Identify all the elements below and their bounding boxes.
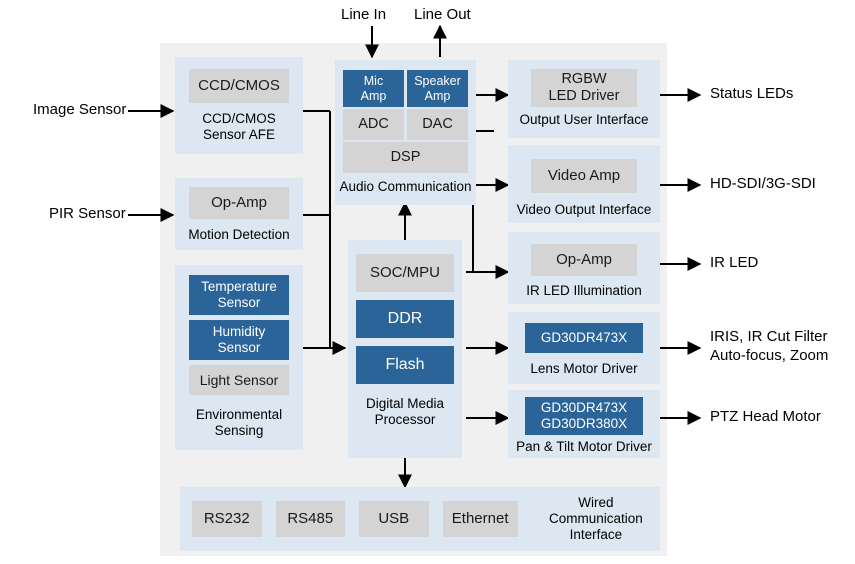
label-image-sensor: Image Sensor [33, 101, 126, 120]
chip-usb[interactable]: USB [359, 501, 429, 537]
label-hd-sdi: HD-SDI/3G-SDI [710, 175, 816, 194]
group-ir-led-illumination: Op-Amp IR LED Illumination [508, 232, 660, 304]
label-line-in: Line In [341, 6, 386, 25]
label-ir-led: IR LED [710, 254, 758, 273]
caption-wired-communication: Wired Communication Interface [532, 495, 660, 544]
chip-ethernet[interactable]: Ethernet [443, 501, 518, 537]
chip-mic-amp[interactable]: Mic Amp [343, 70, 404, 107]
caption-image-sensor: CCD/CMOS Sensor AFE [202, 111, 276, 143]
chip-temperature-sensor[interactable]: Temperature Sensor [189, 275, 289, 315]
chip-rs485[interactable]: RS485 [276, 501, 346, 537]
chip-rgbw-led-driver[interactable]: RGBW LED Driver [531, 69, 637, 107]
chip-gd30dr473x-lens[interactable]: GD30DR473X [525, 323, 643, 353]
chip-op-amp-motion[interactable]: Op-Amp [189, 187, 289, 219]
caption-pan-tilt-motor-driver: Pan & Tilt Motor Driver [516, 439, 652, 455]
chip-video-amp[interactable]: Video Amp [531, 159, 637, 193]
group-audio-communication: Mic Amp Speaker Amp ADC DAC DSP Audio Co… [335, 60, 476, 205]
group-video-output-interface: Video Amp Video Output Interface [508, 145, 660, 223]
caption-environmental-sensing: Environmental Sensing [196, 407, 282, 439]
caption-output-user-interface: Output User Interface [519, 112, 648, 128]
caption-motion-detection: Motion Detection [188, 227, 289, 243]
chip-rs232[interactable]: RS232 [192, 501, 262, 537]
label-line-out: Line Out [414, 6, 471, 25]
chip-speaker-amp[interactable]: Speaker Amp [407, 70, 468, 107]
group-image-sensor: CCD/CMOS CCD/CMOS Sensor AFE [175, 57, 303, 154]
chip-adc[interactable]: ADC [343, 109, 404, 140]
caption-ir-led-illumination: IR LED Illumination [526, 283, 642, 299]
label-pir-sensor: PIR Sensor [49, 205, 126, 224]
group-digital-media-processor: SOC/MPU DDR Flash Digital Media Processo… [348, 240, 462, 458]
chip-ccd-cmos[interactable]: CCD/CMOS [189, 69, 289, 103]
label-ptz-head-motor: PTZ Head Motor [710, 408, 821, 427]
chip-gd30dr-pan-tilt[interactable]: GD30DR473X GD30DR380X [525, 397, 643, 435]
caption-audio-communication: Audio Communication [339, 179, 471, 195]
group-motion-detection: Op-Amp Motion Detection [175, 178, 303, 250]
label-status-leds: Status LEDs [710, 85, 793, 104]
group-pan-tilt-motor-driver: GD30DR473X GD30DR380X Pan & Tilt Motor D… [508, 390, 660, 458]
chip-humidity-sensor[interactable]: Humidity Sensor [189, 320, 289, 360]
caption-lens-motor-driver: Lens Motor Driver [530, 361, 637, 377]
group-lens-motor-driver: GD30DR473X Lens Motor Driver [508, 312, 660, 384]
group-environmental-sensing: Temperature Sensor Humidity Sensor Light… [175, 265, 303, 450]
chip-ddr[interactable]: DDR [356, 300, 454, 338]
chip-op-amp-ir[interactable]: Op-Amp [531, 244, 637, 276]
chip-flash[interactable]: Flash [356, 346, 454, 384]
caption-digital-media-processor: Digital Media Processor [366, 396, 444, 428]
group-wired-communication: RS232 RS485 USB Ethernet Wired Communica… [180, 487, 660, 551]
chip-soc-mpu[interactable]: SOC/MPU [356, 254, 454, 292]
chip-dac[interactable]: DAC [407, 109, 468, 140]
chip-light-sensor[interactable]: Light Sensor [189, 365, 289, 395]
group-output-user-interface: RGBW LED Driver Output User Interface [508, 60, 660, 138]
label-lens-functions: IRIS, IR Cut Filter Auto-focus, Zoom [710, 328, 828, 366]
chip-dsp[interactable]: DSP [343, 142, 468, 173]
caption-video-output-interface: Video Output Interface [517, 202, 652, 218]
